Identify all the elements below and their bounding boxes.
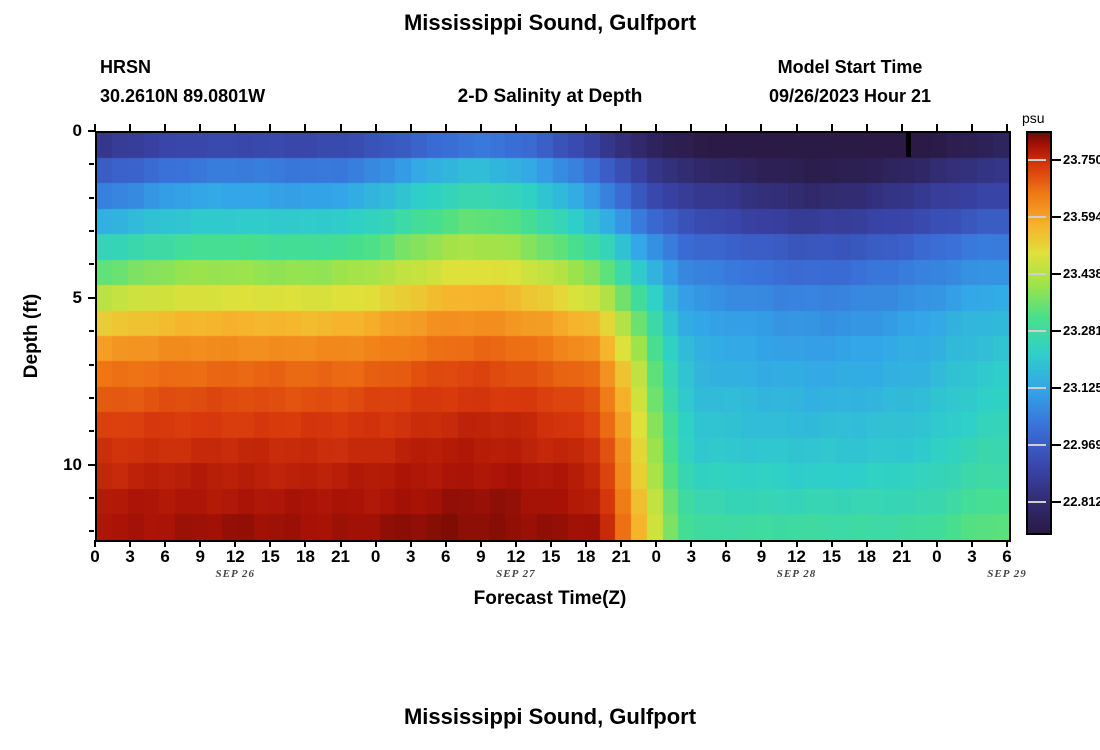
x-axis-tick-label: 12 [777,547,817,567]
x-axis-tick [234,540,236,547]
y-axis-tick [88,130,95,132]
x-axis-tick-top [690,124,692,131]
x-axis-tick-label: 0 [636,547,676,567]
x-axis-tick-label: 6 [145,547,185,567]
x-axis-tick [94,540,96,547]
page-title-top: Mississippi Sound, Gulfport [0,10,1100,36]
x-axis-tick-label: 6 [987,547,1027,567]
x-axis-tick-label: 3 [952,547,992,567]
x-axis-tick [164,540,166,547]
colorbar-gradient [1028,133,1050,533]
x-axis-tick-label: 15 [250,547,290,567]
colorbar-tick-dash [1028,444,1046,446]
model-start-time-value: 09/26/2023 Hour 21 [700,86,1000,107]
y-axis-minor-tick [89,163,94,165]
x-axis-tick [199,540,201,547]
x-axis-tick [725,540,727,547]
x-axis-tick-top [550,124,552,131]
y-axis-tick-label: 0 [42,121,82,141]
x-axis-tick [831,540,833,547]
station-name: HRSN [100,57,151,78]
x-axis-tick-top [410,124,412,131]
x-axis-tick-top [620,124,622,131]
x-axis-date-label: SEP 29 [947,568,1067,580]
x-axis-tick-top [480,124,482,131]
x-axis-tick-label: 0 [917,547,957,567]
colorbar-tick [1052,387,1061,389]
colorbar-tick-label: 23.281 [1063,323,1100,338]
colorbar-tick [1052,444,1061,446]
x-axis-tick-label: 3 [110,547,150,567]
colorbar-tick-dash [1028,273,1046,275]
x-axis-tick [866,540,868,547]
y-axis-minor-tick [89,430,94,432]
x-axis-tick-label: 0 [75,547,115,567]
x-axis-tick-label: 6 [706,547,746,567]
colorbar-tick [1052,159,1061,161]
x-axis-tick-label: 15 [812,547,852,567]
y-axis-minor-tick [89,530,94,532]
x-axis-tick-label: 21 [321,547,361,567]
x-axis-tick-top [375,124,377,131]
x-axis-tick-top [831,124,833,131]
colorbar-unit-label: psu [1022,110,1045,126]
y-axis-tick [88,297,95,299]
x-axis-tick [690,540,692,547]
colorbar [1026,131,1052,535]
x-axis-tick-top [725,124,727,131]
x-axis-tick-top [796,124,798,131]
y-axis-minor-tick [89,330,94,332]
x-axis-tick-label: 9 [461,547,501,567]
colorbar-tick [1052,501,1061,503]
y-axis-title: Depth (ft) [21,256,43,416]
x-axis-tick-label: 9 [180,547,220,567]
x-axis-date-label: SEP 28 [737,568,857,580]
x-axis-tick [971,540,973,547]
x-axis-tick-label: 18 [847,547,887,567]
x-axis-tick [410,540,412,547]
y-axis-minor-tick [89,230,94,232]
y-axis-minor-tick [89,497,94,499]
x-axis-tick-top [445,124,447,131]
x-axis-tick-label: 18 [566,547,606,567]
colorbar-tick-dash [1028,501,1046,503]
x-axis-tick-top [234,124,236,131]
x-axis-tick-label: 12 [215,547,255,567]
x-axis-tick [340,540,342,547]
colorbar-tick-dash [1028,159,1046,161]
x-axis-tick [585,540,587,547]
x-axis-tick-top [515,124,517,131]
x-axis-tick-top [340,124,342,131]
y-axis-minor-tick [89,263,94,265]
x-axis-tick [796,540,798,547]
x-axis-tick [655,540,657,547]
x-axis-tick-top [129,124,131,131]
x-axis-tick-top [971,124,973,131]
x-axis-tick-top [164,124,166,131]
x-axis-date-label: SEP 26 [175,568,295,580]
x-axis-tick-top [1006,124,1008,131]
x-axis-tick-label: 9 [741,547,781,567]
colorbar-tick [1052,273,1061,275]
x-axis-tick-top [199,124,201,131]
x-axis-tick [620,540,622,547]
x-axis-tick-top [866,124,868,131]
model-start-time-label: Model Start Time [700,57,1000,78]
x-axis-tick [129,540,131,547]
colorbar-tick-label: 23.438 [1063,266,1100,281]
x-axis-tick [480,540,482,547]
heatmap-plot-area [95,131,1011,542]
x-axis-tick-top [936,124,938,131]
x-axis-tick-top [269,124,271,131]
x-axis-title: Forecast Time(Z) [0,588,1100,610]
x-axis-tick-top [304,124,306,131]
x-axis-tick [1006,540,1008,547]
x-axis-tick [304,540,306,547]
x-axis-tick-label: 18 [285,547,325,567]
colorbar-tick-label: 23.125 [1063,380,1100,395]
x-axis-tick [269,540,271,547]
salinity-heatmap [97,133,1009,540]
x-axis-tick-label: 0 [356,547,396,567]
y-axis-minor-tick [89,364,94,366]
x-axis-tick-label: 3 [671,547,711,567]
colorbar-tick-label: 22.812 [1063,494,1100,509]
x-axis-tick-top [760,124,762,131]
colorbar-tick-label: 22.969 [1063,437,1100,452]
x-axis-tick [375,540,377,547]
x-axis-tick [936,540,938,547]
page-title-bottom: Mississippi Sound, Gulfport [0,704,1100,730]
colorbar-tick-dash [1028,330,1046,332]
x-axis-tick [760,540,762,547]
x-axis-date-label: SEP 27 [456,568,576,580]
y-axis-minor-tick [89,197,94,199]
x-axis-tick-label: 3 [391,547,431,567]
x-axis-tick-label: 12 [496,547,536,567]
x-axis-tick [901,540,903,547]
x-axis-tick-top [655,124,657,131]
x-axis-tick-label: 21 [601,547,641,567]
colorbar-tick-label: 23.594 [1063,209,1100,224]
colorbar-tick-dash [1028,216,1046,218]
colorbar-tick-dash [1028,387,1046,389]
x-axis-tick [445,540,447,547]
x-axis-tick [550,540,552,547]
x-axis-tick [515,540,517,547]
x-axis-tick-label: 21 [882,547,922,567]
colorbar-tick [1052,330,1061,332]
y-axis-tick [88,464,95,466]
colorbar-tick-label: 23.750 [1063,152,1100,167]
x-axis-tick-label: 6 [426,547,466,567]
observation-marker-icon [906,133,911,157]
y-axis-tick-label: 10 [42,455,82,475]
x-axis-tick-top [585,124,587,131]
x-axis-tick-top [901,124,903,131]
y-axis-minor-tick [89,397,94,399]
colorbar-tick [1052,216,1061,218]
x-axis-tick-label: 15 [531,547,571,567]
y-axis-tick-label: 5 [42,288,82,308]
